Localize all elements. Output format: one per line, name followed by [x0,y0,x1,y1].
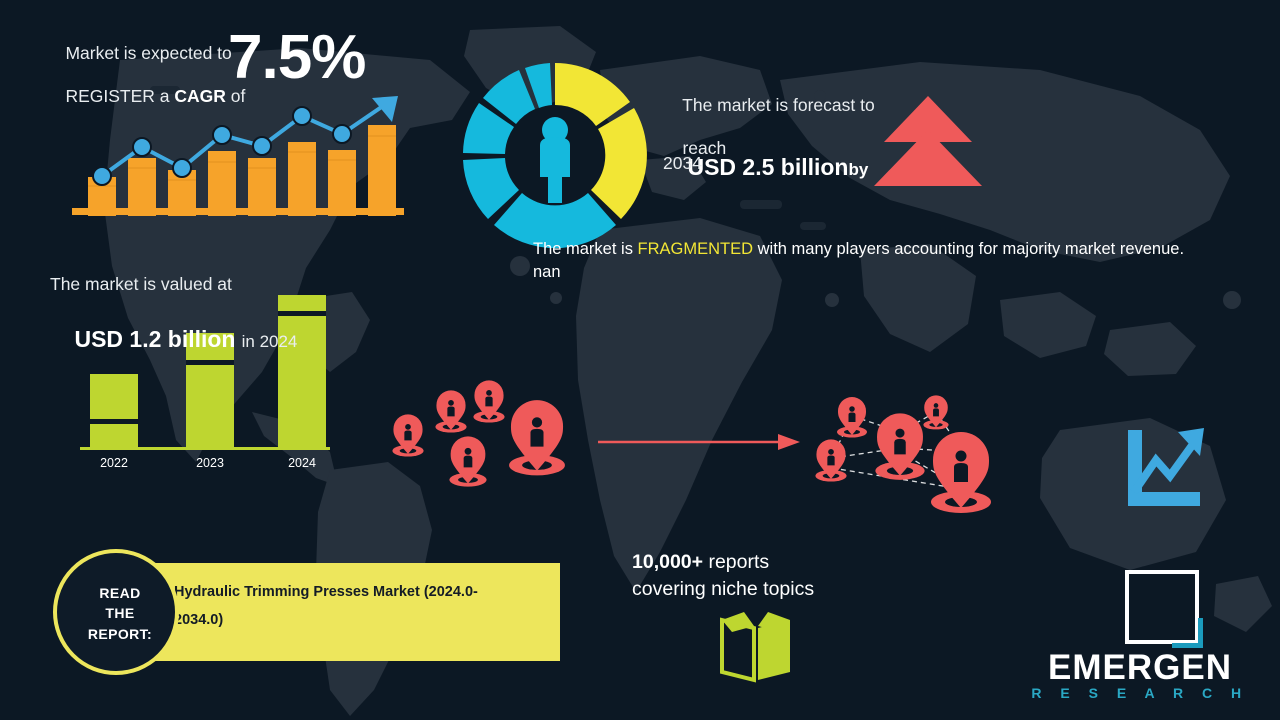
forecast-year: 2034 [663,153,702,174]
badge-line3: REPORT: [88,626,152,642]
infographic-canvas: 2022 2023 2024 Market is expected to REG… [0,0,1280,720]
reports-line1-suffix: reports [703,551,769,573]
fragmented-highlight: FRAGMENTED [638,240,754,258]
fragmentation-statement: The market is FRAGMENTED with many playe… [533,238,1213,285]
logo-subtitle: R E S E A R C H [1020,685,1260,701]
logo-name: EMERGEN [1020,648,1260,688]
read-the-report-badge[interactable]: READ THE REPORT: [53,549,179,675]
cagr-line1: Market is expected to [65,43,231,63]
reports-line2: covering niche topics [632,578,814,600]
bar-2022 [90,374,138,448]
chart-axis [80,447,330,450]
forecast-line1: The market is forecast to [682,95,875,115]
reports-count: 10,000+ [632,551,703,573]
cagr-value: 7.5% [228,20,365,96]
forecast-by: by [848,160,868,179]
fragmented-prefix: The market is [533,240,638,258]
valued-year: in 2024 [242,332,298,351]
cagr-line2-prefix: REGISTER a [65,86,174,106]
badge-label: READ THE REPORT: [57,583,183,644]
emergen-research-logo: EMERGEN R E S E A R C H [1020,570,1260,700]
cagr-word: CAGR [174,86,226,106]
bar-label-2023: 2023 [176,456,244,470]
bar-label-2022: 2022 [80,456,148,470]
bar-label-2024: 2024 [268,456,336,470]
badge-line1: READ [99,585,140,601]
badge-line2: THE [105,605,134,621]
logo-accent-icon [1172,618,1203,648]
valued-amount: USD 1.2 billion [74,326,235,352]
market-value-label: The market is valued at [50,274,232,295]
forecast-amount: USD 2.5 billion [687,154,848,180]
report-title: Hydraulic Trimming Presses Market (2024.… [174,579,504,634]
market-value-amount: USD 1.2 billion in 2024 [50,298,297,380]
reports-count-text: 10,000+ reports covering niche topics [632,549,882,603]
